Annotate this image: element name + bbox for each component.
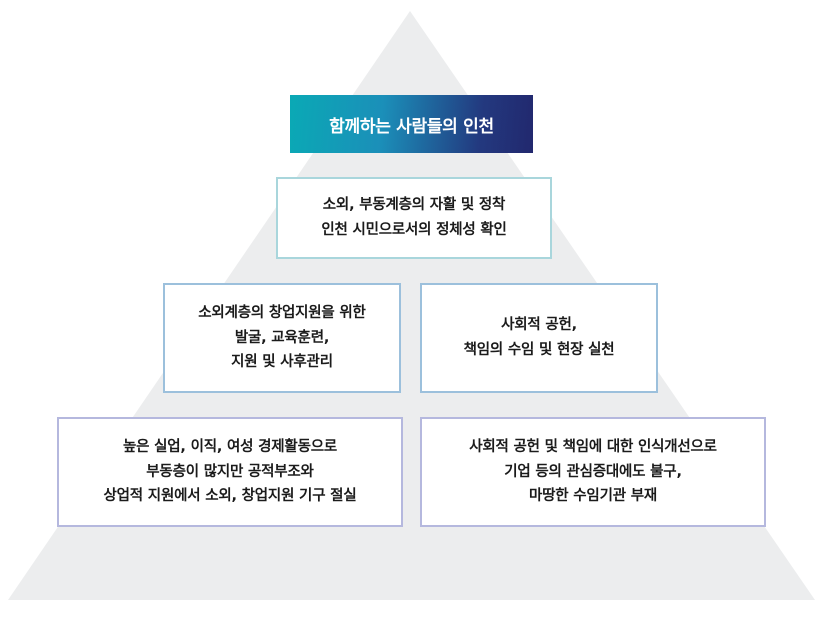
tier-4-label-right: 사회적 공헌 및 책임에 대한 인식개선으로 기업 등의 관심증대에도 불구, … bbox=[422, 435, 764, 510]
pyramid-diagram: 함께하는 사람들의 인천 소외, 부동계층의 자활 및 정착 인천 시민으로서의… bbox=[0, 0, 822, 617]
tier-1-banner: 함께하는 사람들의 인천 bbox=[290, 95, 533, 153]
tier-2-label: 소외, 부동계층의 자활 및 정착 인천 시민으로서의 정체성 확인 bbox=[278, 193, 550, 243]
tier-2-box: 소외, 부동계층의 자활 및 정착 인천 시민으로서의 정체성 확인 bbox=[276, 177, 552, 259]
tier-1-label: 함께하는 사람들의 인천 bbox=[329, 112, 494, 137]
tier-3-label-right: 사회적 공헌, 책임의 수임 및 현장 실천 bbox=[422, 313, 656, 363]
tier-4-box-left: 높은 실업, 이직, 여성 경제활동으로 부동층이 많지만 공적부조와 상업적 … bbox=[57, 417, 403, 527]
tier-3-box-right: 사회적 공헌, 책임의 수임 및 현장 실천 bbox=[420, 283, 658, 393]
tier-3-box-left: 소외계층의 창업지원을 위한 발굴, 교육훈련, 지원 및 사후관리 bbox=[163, 283, 401, 393]
tier-3-label-left: 소외계층의 창업지원을 위한 발굴, 교육훈련, 지원 및 사후관리 bbox=[165, 301, 399, 376]
tier-4-box-right: 사회적 공헌 및 책임에 대한 인식개선으로 기업 등의 관심증대에도 불구, … bbox=[420, 417, 766, 527]
tier-4-label-left: 높은 실업, 이직, 여성 경제활동으로 부동층이 많지만 공적부조와 상업적 … bbox=[59, 435, 401, 510]
